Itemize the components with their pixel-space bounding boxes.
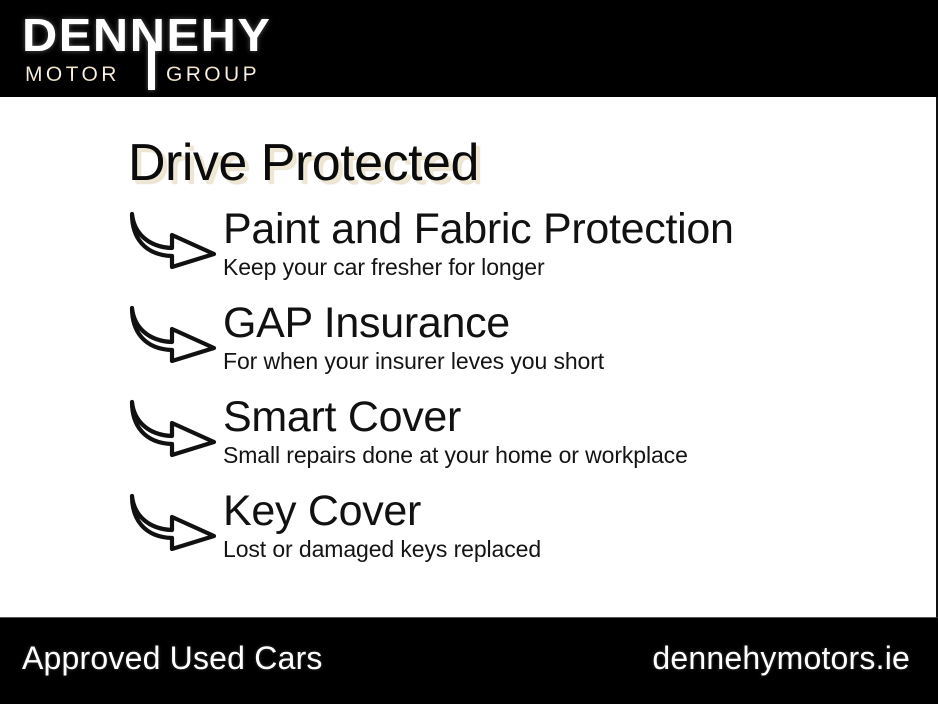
brand-subtitle: MOTOR GROUP <box>25 64 260 86</box>
brand-subtitle-group: GROUP <box>166 63 260 86</box>
list-item: GAP Insurance For when your insurer leve… <box>0 299 938 393</box>
feature-subtitle: Lost or damaged keys replaced <box>223 536 923 562</box>
content-panel: Drive Protected Paint and Fabric Protect… <box>0 97 938 618</box>
feature-list: Paint and Fabric Protection Keep your ca… <box>0 205 938 581</box>
list-item: Smart Cover Small repairs done at your h… <box>0 393 938 487</box>
feature-title: Key Cover <box>223 487 923 535</box>
brand-name: DENNEHY <box>22 12 272 58</box>
brand-logo: DENNEHY MOTOR GROUP <box>22 12 252 90</box>
curved-arrow-right-icon <box>128 305 220 363</box>
list-item: Paint and Fabric Protection Keep your ca… <box>0 205 938 299</box>
feature-text-block: Smart Cover Small repairs done at your h… <box>223 393 923 468</box>
feature-title: GAP Insurance <box>223 299 923 347</box>
footer-tagline: Approved Used Cars <box>22 640 323 677</box>
footer-website[interactable]: dennehymotors.ie <box>652 640 910 677</box>
promo-banner: DENNEHY MOTOR GROUP Drive Protected Pain… <box>0 0 938 704</box>
feature-title: Smart Cover <box>223 393 923 441</box>
feature-subtitle: For when your insurer leves you short <box>223 348 923 374</box>
header-bar: DENNEHY MOTOR GROUP <box>0 0 938 97</box>
footer-bar: Approved Used Cars dennehymotors.ie <box>0 618 938 704</box>
feature-text-block: Key Cover Lost or damaged keys replaced <box>223 487 923 562</box>
curved-arrow-right-icon <box>128 211 220 269</box>
feature-subtitle: Small repairs done at your home or workp… <box>223 442 923 468</box>
brand-subtitle-motor: MOTOR <box>25 63 120 86</box>
curved-arrow-right-icon <box>128 493 220 551</box>
page-title: Drive Protected <box>128 133 479 193</box>
feature-subtitle: Keep your car fresher for longer <box>223 254 923 280</box>
feature-text-block: Paint and Fabric Protection Keep your ca… <box>223 205 923 280</box>
feature-text-block: GAP Insurance For when your insurer leve… <box>223 299 923 374</box>
feature-title: Paint and Fabric Protection <box>223 205 923 253</box>
curved-arrow-right-icon <box>128 399 220 457</box>
list-item: Key Cover Lost or damaged keys replaced <box>0 487 938 581</box>
